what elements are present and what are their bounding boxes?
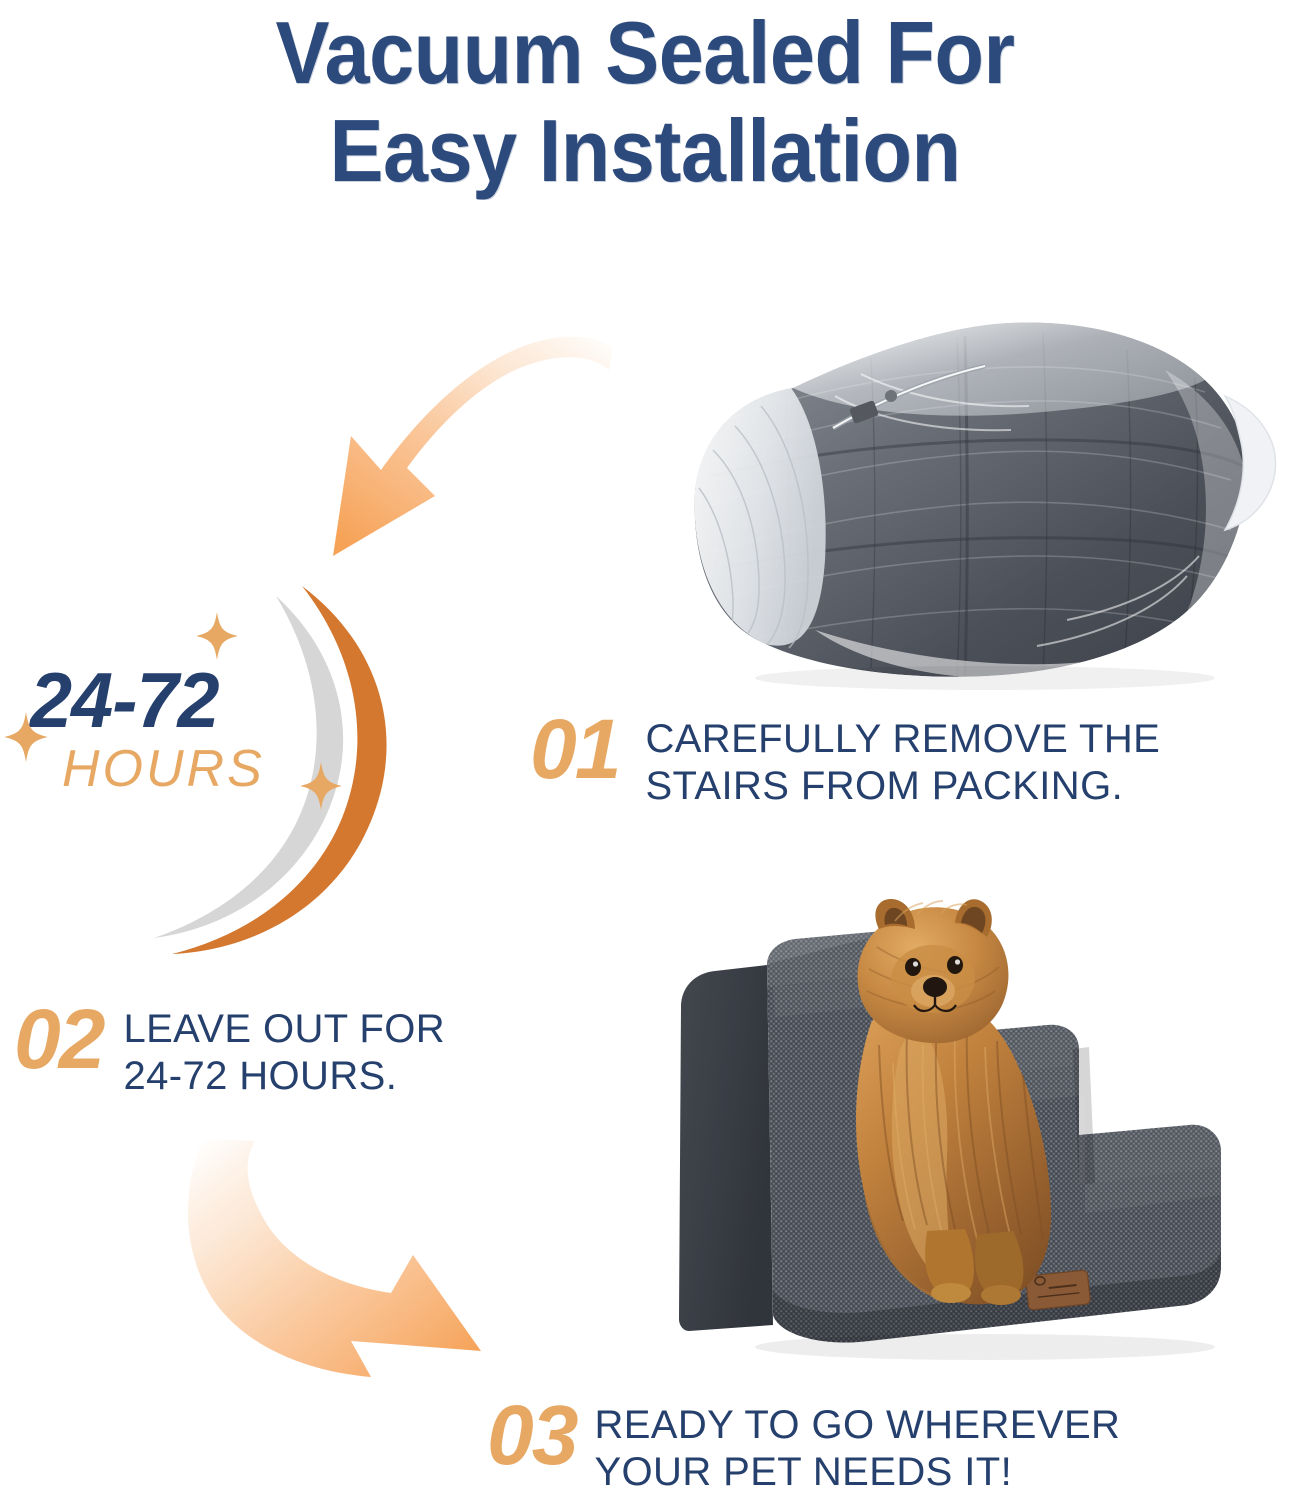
duration-badge-number: 24-72: [30, 660, 321, 740]
step-03-text: READY TO GO WHEREVER YOUR PET NEEDS IT!: [594, 1392, 1120, 1496]
page-title: Vacuum Sealed For Easy Installation: [0, 0, 1290, 200]
step-01-number: 01: [530, 706, 619, 792]
page-title-line-2: Easy Installation: [52, 102, 1239, 200]
duration-badge-unit: HOURS: [62, 740, 330, 798]
step-01: 01 CAREFULLY REMOVE THE STAIRS FROM PACK…: [530, 706, 1160, 810]
pet-stairs-with-dog-photo: [655, 895, 1280, 1375]
sparkle-star-icon: [4, 712, 48, 762]
step-03-number: 03: [487, 1392, 576, 1478]
vacuum-sealed-package-photo: [665, 300, 1285, 690]
step-02-text: LEAVE OUT FOR 24-72 HOURS.: [123, 996, 445, 1100]
brand-logo-patch: [1025, 1270, 1090, 1310]
step-02-number: 02: [14, 996, 103, 1082]
duration-badge-text: 24-72 HOURS: [30, 660, 330, 798]
curved-arrow-down-left-icon: [295, 318, 615, 583]
step-02: 02 LEAVE OUT FOR 24-72 HOURS.: [14, 996, 445, 1100]
pomeranian-dog: [856, 899, 1051, 1305]
sparkle-star-icon: [196, 612, 238, 660]
step-01-text: CAREFULLY REMOVE THE STAIRS FROM PACKING…: [645, 706, 1160, 810]
sparkle-star-icon: [300, 762, 342, 810]
curved-arrow-down-right-icon: [175, 1135, 535, 1385]
page-title-line-1: Vacuum Sealed For: [52, 4, 1239, 102]
step-03: 03 READY TO GO WHEREVER YOUR PET NEEDS I…: [487, 1392, 1120, 1496]
